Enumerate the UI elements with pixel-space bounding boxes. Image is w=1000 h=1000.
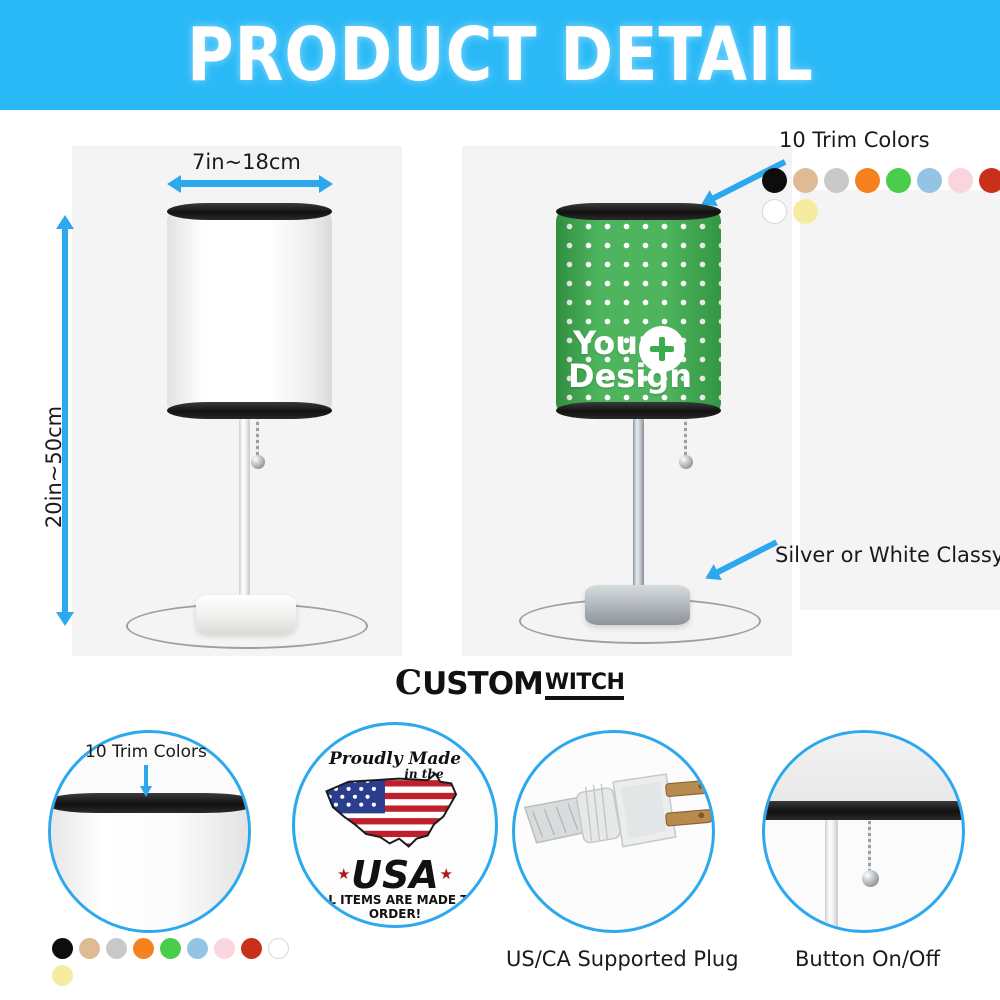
- trim-colors-bottom-arrow: [144, 765, 148, 787]
- brand-logo: C USTOM WITCH: [395, 666, 624, 700]
- feature-circle-made-in-usa: Proudly Made in the: [292, 722, 498, 928]
- usa-badge-subtitle: ALL ITEMS ARE MADE TO ORDER!: [295, 893, 495, 921]
- trim-swatch-black[interactable]: [52, 938, 73, 959]
- star-right-icon: ★: [440, 865, 453, 883]
- trim-swatch-green[interactable]: [886, 168, 911, 193]
- button-closeup-chain-ball: [862, 870, 879, 887]
- trim-swatch-pink[interactable]: [214, 938, 235, 959]
- usa-badge-line1: Proudly Made: [295, 749, 495, 769]
- trim-colors-top-label: 10 Trim Colors: [779, 128, 930, 152]
- trim-swatch-red[interactable]: [979, 168, 1000, 193]
- feature-circle-button: [762, 730, 965, 933]
- button-closeup-chain: [868, 821, 871, 873]
- logo-witch-text: WITCH: [545, 672, 625, 700]
- logo-custom-text: USTOM: [422, 669, 543, 700]
- header-banner: PRODUCT DETAIL: [0, 0, 1000, 110]
- trim-colors-bottom-swatches: [52, 938, 292, 986]
- green-lamp-pull-chain: [684, 416, 687, 458]
- trim-swatch-gray[interactable]: [106, 938, 127, 959]
- white-lamp-bottom-trim: [167, 402, 332, 419]
- height-dimension-arrow: [62, 228, 68, 613]
- white-lamp-chain-ball: [251, 455, 265, 469]
- trim-swatch-green[interactable]: [160, 938, 181, 959]
- feature-circle-plug: [512, 730, 715, 933]
- width-dimension-label: 7in~18cm: [192, 150, 301, 174]
- white-lamp-top-trim: [167, 203, 332, 220]
- trim-swatch-gray[interactable]: [824, 168, 849, 193]
- white-lamp-pole: [239, 418, 250, 598]
- green-lamp-pole: [633, 418, 644, 588]
- white-lamp-base: [196, 595, 296, 633]
- white-lamp-shade: [167, 212, 332, 412]
- trim-colors-bottom-label: 10 Trim Colors: [85, 742, 207, 762]
- trim-swatch-white[interactable]: [268, 938, 289, 959]
- button-caption: Button On/Off: [795, 947, 940, 971]
- trim-swatch-black[interactable]: [762, 168, 787, 193]
- plug-caption: US/CA Supported Plug: [506, 947, 739, 971]
- logo-c-mark: C: [395, 666, 422, 700]
- trim-swatch-light-blue[interactable]: [917, 168, 942, 193]
- power-plug-icon: [519, 755, 715, 905]
- button-closeup-pole: [825, 819, 838, 929]
- base-finish-label: Silver or White Classy: [775, 543, 1000, 567]
- usa-flag-map-icon: [317, 767, 475, 855]
- trim-swatch-pink[interactable]: [948, 168, 973, 193]
- usa-badge-word: USA: [295, 853, 495, 897]
- green-lamp-chain-ball: [679, 455, 693, 469]
- trim-swatch-orange[interactable]: [855, 168, 880, 193]
- trim-swatch-red[interactable]: [241, 938, 262, 959]
- green-lamp-top-trim: [556, 203, 721, 220]
- trim-swatch-light-blue[interactable]: [187, 938, 208, 959]
- white-lamp-pull-chain: [256, 416, 259, 458]
- trim-colors-top-swatches: [762, 168, 1000, 224]
- page-title: PRODUCT DETAIL: [187, 12, 814, 98]
- product-detail-image: PRODUCT DETAIL 7in~18cm 20in~50cm Your D…: [0, 0, 1000, 1000]
- green-lamp-bottom-trim: [556, 402, 721, 419]
- trim-swatch-yellow[interactable]: [52, 965, 73, 986]
- trim-swatch-white[interactable]: [762, 199, 787, 224]
- trim-swatch-tan[interactable]: [793, 168, 818, 193]
- trim-swatch-tan[interactable]: [79, 938, 100, 959]
- trim-swatch-orange[interactable]: [133, 938, 154, 959]
- width-dimension-arrow: [180, 180, 320, 187]
- green-lamp-base: [585, 585, 690, 625]
- button-closeup-trim: [762, 801, 965, 820]
- plus-icon: [639, 326, 685, 372]
- trim-swatch-yellow[interactable]: [793, 199, 818, 224]
